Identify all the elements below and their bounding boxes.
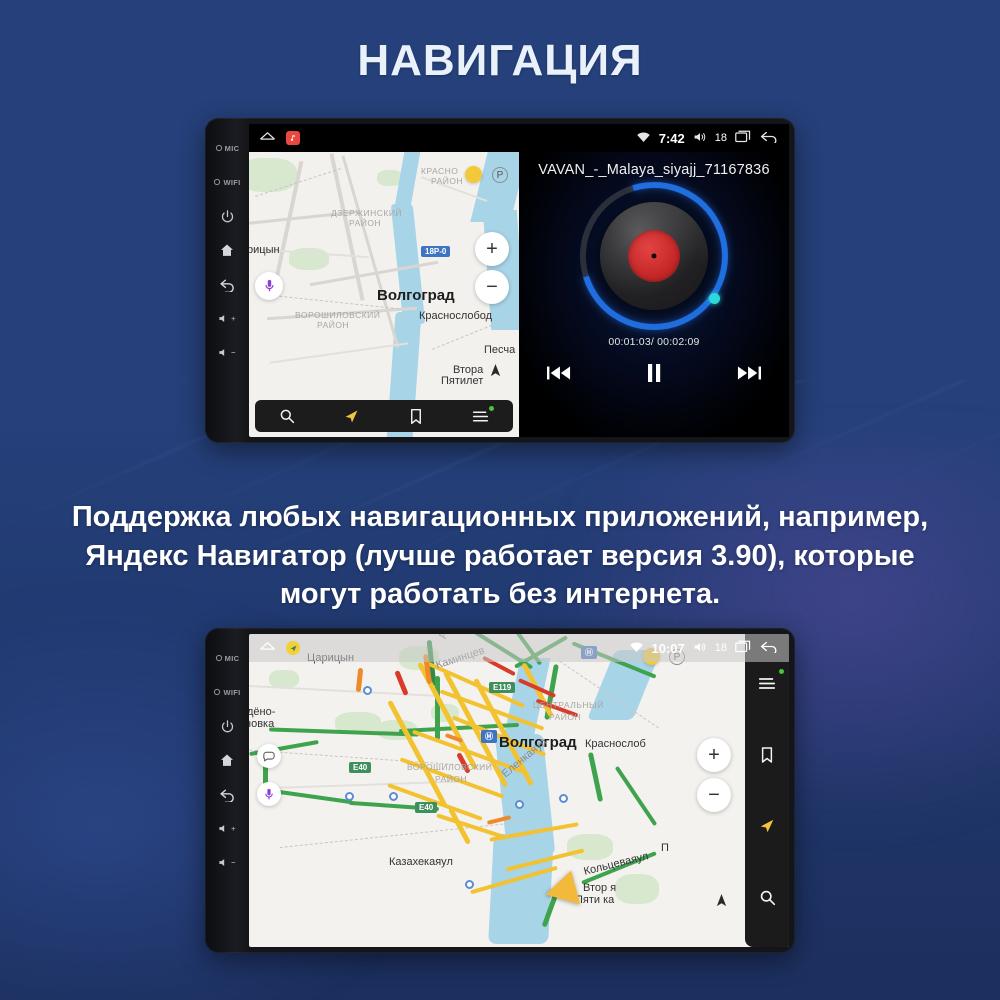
volume-level: 18	[715, 132, 727, 144]
map-label: РАЙОН	[431, 176, 463, 186]
map-label: ВОРОШИЛОВСКИЙ	[295, 310, 380, 320]
microphone-icon[interactable]	[255, 272, 283, 300]
map-label: КРАСНО	[421, 166, 458, 176]
wifi-reset-button[interactable]: WIFI	[205, 165, 249, 199]
wifi-reset-button[interactable]: WIFI	[205, 675, 249, 709]
back-arrow-icon[interactable]	[760, 640, 779, 656]
volume-up-button[interactable]: +	[205, 811, 249, 845]
map-label: ДЗЕРЖИНСКИЙ	[331, 208, 402, 218]
power-button[interactable]	[205, 199, 249, 233]
navigation-arrow-icon[interactable]	[335, 403, 369, 429]
map-transit-point[interactable]	[465, 880, 474, 889]
status-time: 7:42	[659, 131, 685, 146]
map-city-label: Волгоград	[377, 287, 455, 304]
menu-badge-dot	[779, 669, 784, 674]
map-transit-point[interactable]	[559, 794, 568, 803]
map-transit-point[interactable]	[389, 792, 398, 801]
menu-icon[interactable]	[464, 403, 498, 429]
side-button-rail-top: MIC WIFI +	[205, 118, 249, 443]
vinyl-record-icon	[600, 202, 708, 310]
home-button[interactable]	[205, 743, 249, 777]
map-label: РАЙОН	[349, 218, 381, 228]
vinyl-hole	[652, 254, 657, 259]
map-side-bar-bottom	[745, 634, 789, 947]
screen-bottom: Царицын дёно- новка ВОРОШИЛОВСКИЙ РАЙОН …	[249, 634, 789, 947]
metro-marker[interactable]: Ⓜ	[481, 730, 497, 743]
map-label: новка	[249, 718, 274, 730]
bookmark-icon[interactable]	[399, 403, 433, 429]
home-icon[interactable]	[259, 130, 276, 147]
playback-controls	[538, 358, 770, 388]
map-label: дёно-	[249, 706, 275, 718]
volume-up-button[interactable]: +	[205, 301, 249, 335]
status-bar-top: 7:42 18	[249, 124, 789, 152]
poi-marker[interactable]	[465, 166, 482, 183]
map-label: РАЙОН	[435, 774, 467, 784]
previous-track-button[interactable]	[538, 358, 580, 388]
zoom-in-button[interactable]: +	[697, 738, 731, 772]
map-label: Пятилет	[441, 375, 483, 387]
back-arrow-icon[interactable]	[760, 130, 779, 146]
mic-button[interactable]: MIC	[205, 131, 249, 165]
side-button-rail-bottom: MIC WIFI + −	[205, 628, 249, 953]
compass-icon[interactable]	[711, 890, 731, 910]
volume-icon	[693, 641, 707, 656]
map-label: Краснослобод	[419, 310, 492, 322]
page-description: Поддержка любых навигационных приложений…	[55, 498, 945, 614]
map-panel-bottom[interactable]: Царицын дёно- новка ВОРОШИЛОВСКИЙ РАЙОН …	[249, 634, 789, 947]
head-unit-device-top: MIC WIFI +	[205, 118, 795, 443]
zoom-out-button[interactable]: −	[475, 270, 509, 304]
recents-icon[interactable]	[735, 640, 752, 656]
road-shield: 18Р-0	[421, 246, 450, 257]
home-button[interactable]	[205, 233, 249, 267]
volume-icon	[693, 131, 707, 146]
map-transit-point[interactable]	[515, 800, 524, 809]
map-label: РАЙОН	[317, 320, 349, 330]
album-disc	[574, 182, 734, 330]
map-label: Песча	[484, 344, 515, 356]
map-bottom-bar-top	[255, 400, 513, 432]
power-button[interactable]	[205, 709, 249, 743]
map-label: РАЙОН	[549, 712, 581, 722]
search-icon[interactable]	[750, 882, 784, 912]
volume-down-button[interactable]: −	[205, 845, 249, 879]
progress-ring-dot[interactable]	[709, 293, 720, 304]
status-bar-bottom: 10:07 18	[249, 634, 789, 662]
screen-top: 7:42 18	[249, 124, 789, 437]
microphone-icon[interactable]	[257, 782, 281, 806]
zoom-in-button[interactable]: +	[475, 232, 509, 266]
navigator-app-icon[interactable]	[286, 641, 300, 655]
next-track-button[interactable]	[728, 358, 770, 388]
navigation-arrow-icon[interactable]	[750, 811, 784, 841]
bookmark-icon[interactable]	[750, 740, 784, 770]
road-shield: E40	[415, 802, 437, 813]
search-icon[interactable]	[270, 403, 304, 429]
head-unit-device-bottom: MIC WIFI + −	[205, 628, 795, 953]
map-transit-point[interactable]	[363, 686, 372, 695]
road-shield: E119	[489, 682, 515, 693]
map-label: рицын	[249, 244, 280, 256]
menu-icon[interactable]	[750, 669, 784, 699]
map-label: ЦЕНТРАЛЬНЫЙ	[533, 700, 604, 710]
compass-icon[interactable]	[485, 360, 505, 380]
menu-badge-dot	[489, 406, 494, 411]
mic-button[interactable]: MIC	[205, 641, 249, 675]
status-time: 10:07	[652, 641, 685, 656]
wifi-icon	[636, 131, 651, 146]
back-button[interactable]	[205, 777, 249, 811]
recents-icon[interactable]	[735, 130, 752, 146]
volume-level: 18	[715, 642, 727, 654]
map-label: Казахекаяул	[389, 856, 453, 868]
page-title: НАВИГАЦИЯ	[0, 36, 1000, 86]
map-transit-point[interactable]	[345, 792, 354, 801]
map-label: П	[661, 842, 669, 854]
zoom-out-button[interactable]: −	[697, 778, 731, 812]
back-button[interactable]	[205, 267, 249, 301]
road-shield: E40	[349, 762, 371, 773]
music-app-icon[interactable]	[286, 131, 300, 145]
wifi-icon	[629, 641, 644, 656]
chat-bubble-icon[interactable]	[257, 744, 281, 768]
home-icon[interactable]	[259, 640, 276, 657]
pause-button[interactable]	[633, 358, 675, 388]
map-label: Втор я	[583, 882, 616, 894]
parking-icon[interactable]: P	[492, 167, 508, 183]
playback-timecode: 00:01:03/ 00:02:09	[608, 336, 699, 348]
map-label: Краснослоб	[585, 738, 646, 750]
music-player-panel[interactable]: VAVAN_-_Malaya_siyajj_71167836 00:01:03/…	[519, 152, 789, 437]
track-title: VAVAN_-_Malaya_siyajj_71167836	[538, 162, 769, 178]
map-label: ВОРОШИЛОВСКИЙ	[407, 762, 492, 772]
map-panel-top[interactable]: КРАСНО РАЙОН ДЗЕРЖИНСКИЙ РАЙОН рицын ВОР…	[249, 152, 519, 437]
volume-down-button[interactable]: −	[205, 335, 249, 369]
